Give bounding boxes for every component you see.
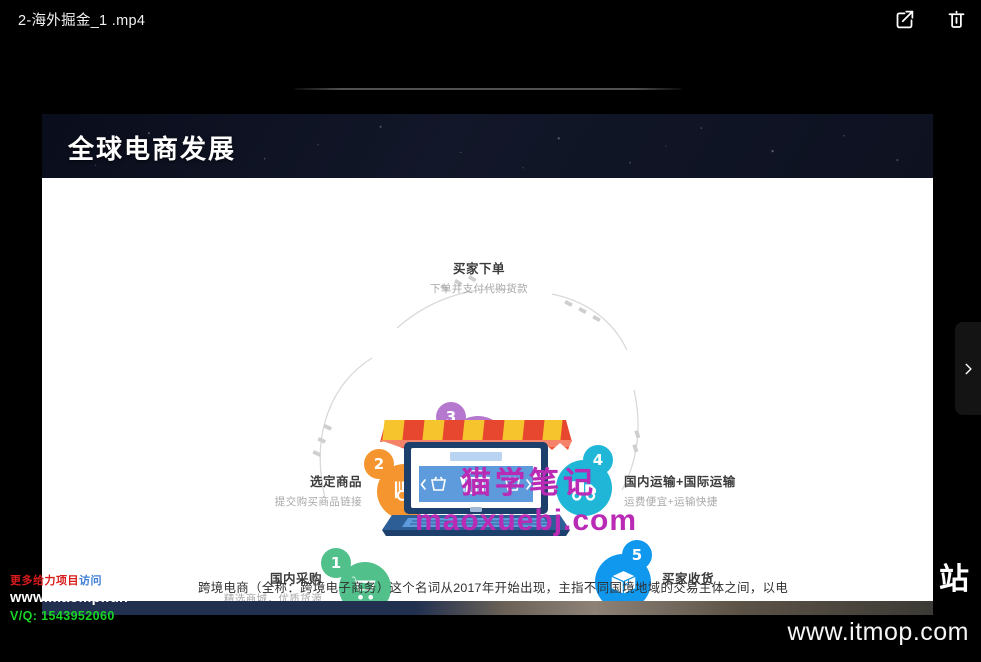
flow-node-4-subtitle: 运费便宜+运输快捷: [624, 494, 839, 509]
slide-title: 全球电商发展: [68, 129, 236, 166]
flow-node-4-title: 国内运输+国际运输: [624, 471, 839, 490]
share-export-icon[interactable]: [891, 6, 917, 32]
video-slide-frame: 全球电商发展: [42, 114, 933, 615]
video-player-screen: 2-海外掘金_1 .mp4 全球电商发展: [0, 0, 981, 662]
slide-header: 全球电商发展: [42, 114, 933, 178]
chevron-right-icon: [961, 362, 975, 376]
bottom-right-watermark-char: 站: [939, 565, 969, 595]
online-store-illustration: [378, 406, 568, 538]
flow-node-3-subtitle: 下单并支付代购货款: [398, 281, 560, 296]
flow-node-1-badge: 1: [321, 548, 351, 578]
trash-icon[interactable]: [943, 6, 969, 32]
flow-node-4-badge: 4: [583, 445, 613, 475]
flow-node-1-number: 1: [331, 554, 341, 572]
flow-node-4-label: 国内运输+国际运输 运费便宜+运输快捷: [624, 471, 839, 509]
laptop-storefront-icon: [378, 406, 574, 546]
slide-body: 1 国内采购 精选商城，优质货源: [42, 178, 933, 615]
flow-node-5-badge: 5: [622, 540, 652, 570]
flow-node-2-title: 选定商品: [197, 471, 362, 490]
flow-node-3-title: 买家下单: [398, 258, 560, 277]
slide-footer-band: [42, 601, 933, 615]
top-bar-actions: [891, 6, 969, 32]
flow-node-2-subtitle: 提交购买商品链接: [197, 494, 362, 509]
progress-scrubber[interactable]: [294, 88, 682, 90]
page-title: 2-海外掘金_1 .mp4: [18, 9, 145, 30]
flow-node-5-number: 5: [632, 546, 642, 564]
bottom-right-watermark-url: www.itmop.com: [787, 618, 969, 647]
flow-node-3-label: 买家下单 下单并支付代购货款: [398, 258, 560, 296]
drawer-expand-button[interactable]: [955, 322, 981, 415]
flow-node-2-label: 选定商品 提交购买商品链接: [197, 471, 362, 509]
flow-node-4-number: 4: [593, 451, 603, 469]
top-bar: 2-海外掘金_1 .mp4: [0, 0, 981, 38]
